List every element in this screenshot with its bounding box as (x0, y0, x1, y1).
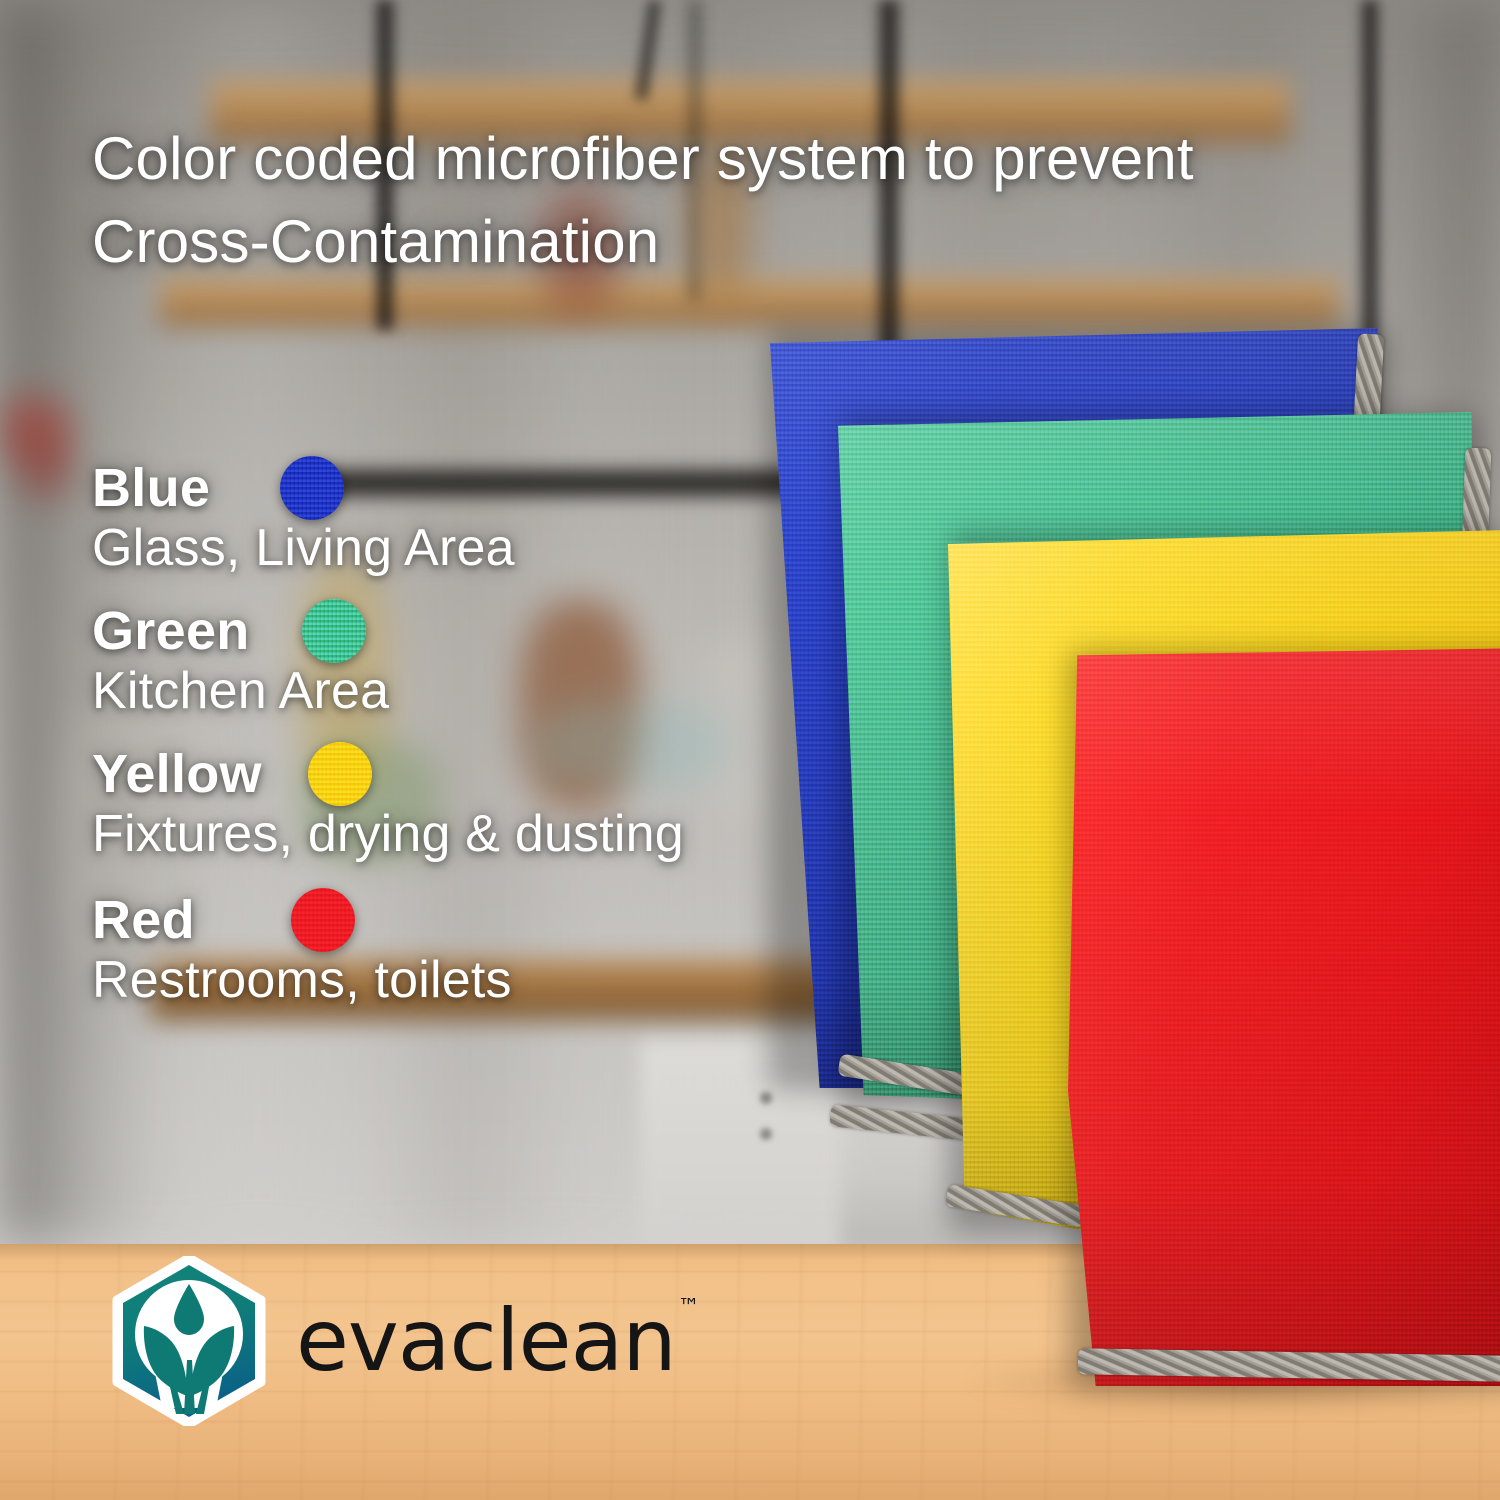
headline-line-2: Cross-Contamination (92, 201, 1432, 284)
legend-item-yellow: Yellow Fixtures, drying & dusting (92, 738, 852, 863)
evaclean-hexagon-leaf-droplet-logo (108, 1256, 270, 1426)
brand-name-text: evaclean (296, 1291, 676, 1391)
legend-usage-red: Restrooms, toilets (92, 952, 852, 1009)
legend-item-blue: Blue Glass, Living Area (92, 452, 852, 577)
legend-color-name-yellow: Yellow (92, 743, 262, 805)
headline-line-1: Color coded microfiber system to prevent (92, 118, 1432, 201)
green-color-dot (302, 599, 366, 663)
brand-wordmark: evaclean™ (296, 1298, 698, 1384)
color-code-legend: Blue Glass, Living Area Green Kitchen Ar… (92, 452, 852, 1017)
red-microfiber-cloth (1068, 648, 1500, 1386)
legend-color-name-red: Red (92, 889, 195, 951)
red-color-dot (291, 888, 355, 952)
yellow-color-dot (308, 742, 372, 806)
brand-logo: evaclean™ (108, 1256, 698, 1426)
blue-color-dot (280, 456, 344, 520)
legend-color-name-blue: Blue (92, 457, 210, 519)
legend-usage-blue: Glass, Living Area (92, 520, 852, 577)
promo-image: Color coded microfiber system to prevent… (0, 0, 1500, 1500)
legend-usage-yellow: Fixtures, drying & dusting (92, 806, 852, 863)
headline: Color coded microfiber system to prevent… (92, 118, 1432, 284)
legend-item-red: Red Restrooms, toilets (92, 884, 852, 1009)
trademark-symbol: ™ (678, 1295, 700, 1320)
legend-color-name-green: Green (92, 600, 250, 662)
legend-item-green: Green Kitchen Area (92, 595, 852, 720)
legend-usage-green: Kitchen Area (92, 663, 852, 720)
red-cloth-texture (1068, 648, 1500, 1386)
